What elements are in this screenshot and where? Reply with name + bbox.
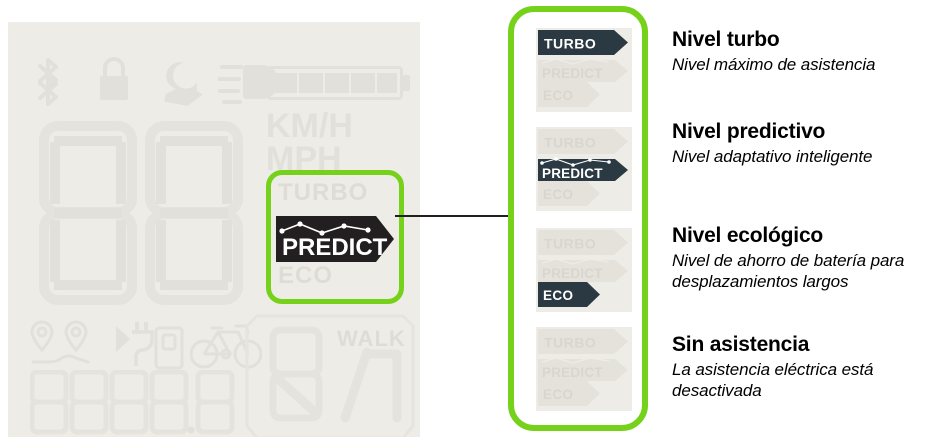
- lock-icon: [91, 54, 137, 110]
- speed-digits: [36, 120, 256, 310]
- battery-indicator: [266, 66, 412, 100]
- mini-eco-badge-active: ECO: [538, 282, 600, 307]
- description-title: Nivel predictivo: [672, 120, 944, 144]
- mini-turbo-label: TURBO: [544, 335, 596, 351]
- bottom-icon-row: [30, 318, 245, 370]
- mini-eco-badge-inactive: ECO: [538, 381, 600, 406]
- mini-predict-badge-inactive: PREDICT: [537, 54, 629, 82]
- description-title: Nivel turbo: [672, 28, 944, 52]
- walk-gear-box: WALK: [245, 314, 415, 437]
- mini-eco-badge-inactive: ECO: [538, 181, 600, 206]
- mini-predict-label: PREDICT: [542, 66, 603, 81]
- mini-eco-label: ECO: [543, 88, 573, 103]
- mini-predict-label: PREDICT: [542, 266, 603, 281]
- bluetooth-icon: [28, 54, 68, 110]
- state-off: TURBO PREDICT ECO: [536, 327, 632, 411]
- odometer-digits: [30, 370, 235, 437]
- state-predict: TURBO PREDICT ECO: [536, 127, 632, 211]
- description-off: Sin asistencia La asistencia eléctrica e…: [672, 333, 944, 402]
- mini-predict-badge-inactive: PREDICT: [537, 254, 629, 282]
- mini-eco-label: ECO: [543, 288, 573, 303]
- mini-turbo-label: TURBO: [544, 36, 596, 52]
- description-title: Sin asistencia: [672, 333, 944, 357]
- mini-turbo-label: TURBO: [544, 236, 596, 252]
- description-turbo: Nivel turbo Nivel máximo de asistencia: [672, 28, 944, 75]
- lcd-display-panel: KM/H MPH: [8, 22, 420, 437]
- description-subtitle: La asistencia eléctrica está desactivada: [672, 359, 944, 403]
- mini-predict-label: PREDICT: [542, 365, 603, 380]
- callout-panel: TURBO PREDICT ECO: [508, 6, 648, 431]
- mini-turbo-label: TURBO: [544, 135, 596, 151]
- callout-connector-line: [395, 215, 520, 217]
- description-subtitle: Nivel máximo de asistencia: [672, 54, 944, 76]
- mini-turbo-badge-inactive: TURBO: [538, 329, 628, 354]
- mini-turbo-badge-active: TURBO: [538, 30, 628, 55]
- description-subtitle: Nivel de ahorro de batería para desplaza…: [672, 250, 944, 294]
- state-eco: TURBO PREDICT ECO: [536, 228, 632, 312]
- mini-eco-label: ECO: [543, 387, 573, 402]
- description-subtitle: Nivel adaptativo inteligente: [672, 146, 944, 168]
- figure-root: KM/H MPH: [0, 0, 949, 437]
- unit-kmh: KM/H: [266, 110, 416, 143]
- mini-predict-badge-active: PREDICT: [537, 153, 629, 181]
- mini-eco-badge-inactive: ECO: [538, 82, 600, 107]
- mini-turbo-badge-inactive: TURBO: [538, 129, 628, 154]
- route-pins-icon: [30, 318, 108, 370]
- description-title: Nivel ecológico: [672, 224, 944, 248]
- lcd-highlight-ring: [266, 170, 404, 304]
- state-turbo: TURBO PREDICT ECO: [536, 28, 632, 112]
- charging-station-icon: [116, 318, 184, 370]
- mini-predict-label: PREDICT: [542, 166, 603, 181]
- mini-eco-label: ECO: [543, 187, 573, 202]
- description-predict: Nivel predictivo Nivel adaptativo inteli…: [672, 120, 944, 167]
- speed-units: KM/H MPH: [266, 110, 416, 176]
- wrench-icon: [156, 54, 206, 110]
- mini-turbo-badge-inactive: TURBO: [538, 230, 628, 255]
- mini-predict-badge-inactive: PREDICT: [537, 353, 629, 381]
- status-icon-row: [28, 54, 258, 110]
- description-eco: Nivel ecológico Nivel de ahorro de bater…: [672, 224, 944, 293]
- walk-label: WALK: [337, 326, 406, 351]
